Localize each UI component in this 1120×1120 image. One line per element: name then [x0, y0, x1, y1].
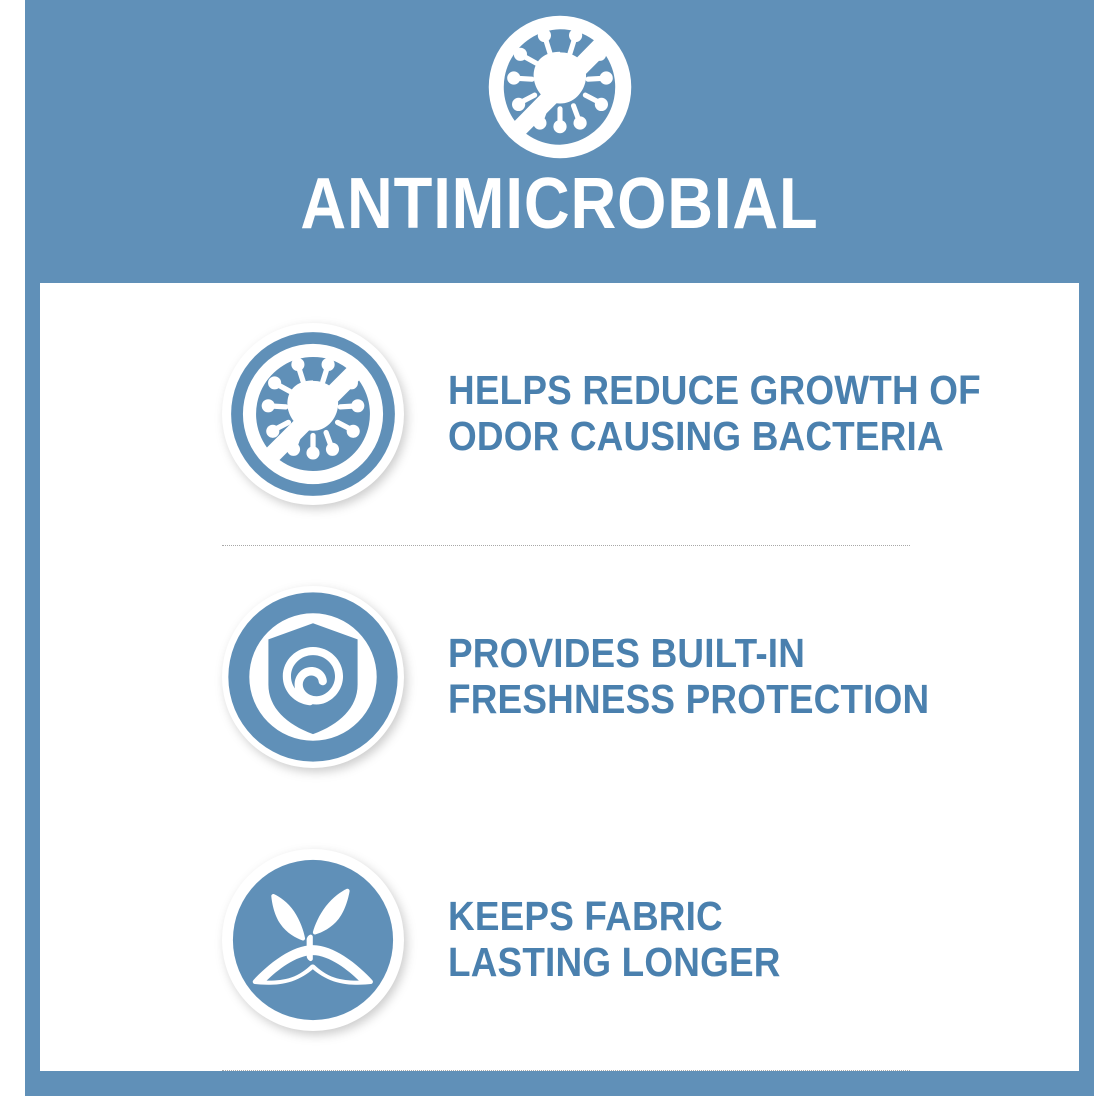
antimicrobial-infographic: ANTIMICROBIAL — [0, 0, 1120, 1120]
feature-text: HELPS REDUCE GROWTH OF ODOR CAUSING BACT… — [448, 368, 981, 460]
feature-line-2: ODOR CAUSING BACTERIA — [448, 414, 981, 460]
feature-line-1: KEEPS FABRIC — [448, 894, 781, 940]
feature-line-2: FRESHNESS PROTECTION — [448, 677, 929, 723]
page-title: ANTIMICROBIAL — [300, 168, 818, 240]
feature-row-freshness: PROVIDES BUILT-IN FRESHNESS PROTECTION — [40, 546, 1079, 808]
feature-line-2: LASTING LONGER — [448, 940, 781, 986]
blue-frame-panel: ANTIMICROBIAL — [25, 0, 1094, 1096]
feature-text: KEEPS FABRIC LASTING LONGER — [448, 894, 781, 986]
feature-row-fabric: KEEPS FABRIC LASTING LONGER — [40, 809, 1079, 1071]
shield-swirl-icon — [222, 586, 404, 768]
feature-text: PROVIDES BUILT-IN FRESHNESS PROTECTION — [448, 631, 929, 723]
feature-line-1: HELPS REDUCE GROWTH OF — [448, 368, 981, 414]
no-germ-icon — [485, 12, 635, 162]
feature-row-bacteria: HELPS REDUCE GROWTH OF ODOR CAUSING BACT… — [40, 283, 1079, 545]
feature-line-1: PROVIDES BUILT-IN — [448, 631, 929, 677]
features-card: HELPS REDUCE GROWTH OF ODOR CAUSING BACT… — [40, 283, 1079, 1071]
feature-list: HELPS REDUCE GROWTH OF ODOR CAUSING BACT… — [40, 283, 1079, 1071]
header: ANTIMICROBIAL — [25, 0, 1094, 283]
sprout-leaf-icon — [222, 849, 404, 1031]
no-germ-icon — [222, 323, 404, 505]
